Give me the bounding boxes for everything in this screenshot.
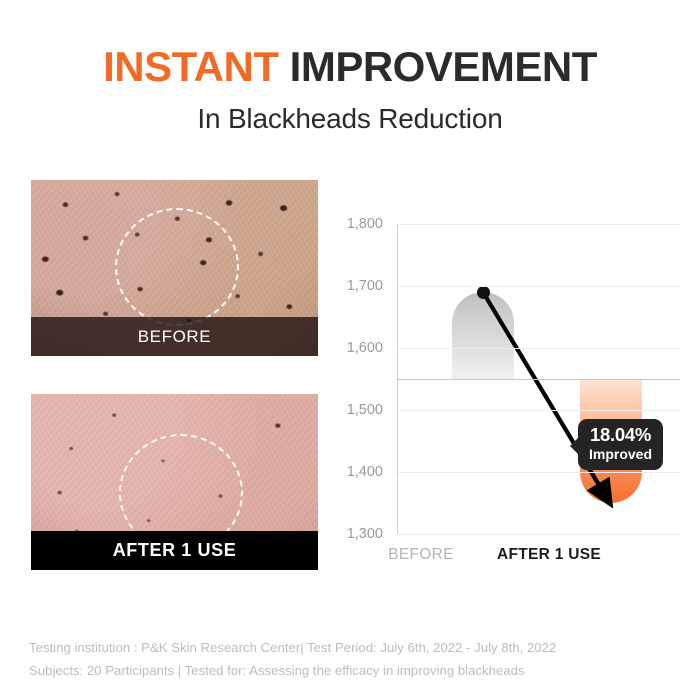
blackhead-reduction-bar-chart: 1,8001,7001,6001,5001,4001,300 BEFORE AF…	[336, 210, 686, 585]
before-value-dot-icon	[477, 286, 490, 299]
gridline	[398, 286, 680, 287]
header: INSTANT IMPROVEMENT In Blackheads Reduct…	[0, 44, 700, 135]
badge-caption: Improved	[589, 446, 652, 462]
x-axis-label-after: AFTER 1 USE	[489, 546, 609, 564]
gridline	[398, 534, 680, 535]
after-photo-label: AFTER 1 USE	[31, 531, 318, 570]
badge-notch-icon	[570, 437, 579, 455]
gridline	[398, 224, 680, 225]
footer-line-2: Subjects: 20 Participants | Tested for: …	[29, 660, 669, 683]
gridline	[398, 410, 680, 411]
y-axis-tick-label: 1,400	[325, 464, 383, 480]
page-title: INSTANT IMPROVEMENT	[0, 44, 700, 89]
footer-line-1: Testing institution : P&K Skin Research …	[29, 637, 669, 660]
y-axis-tick-label: 1,500	[325, 402, 383, 418]
y-axis-tick-label: 1,600	[325, 340, 383, 356]
gridline	[398, 472, 680, 473]
title-accent-word: INSTANT	[103, 43, 278, 90]
y-axis-tick-label: 1,800	[325, 216, 383, 232]
chart-plot-area: 1,8001,7001,6001,5001,4001,300	[397, 224, 680, 534]
gridline	[398, 348, 680, 349]
y-axis-tick-label: 1,300	[325, 526, 383, 542]
footer-disclaimer: Testing institution : P&K Skin Research …	[29, 637, 669, 682]
badge-percent: 18.04%	[589, 425, 652, 445]
before-photo-label: BEFORE	[31, 317, 318, 356]
baseline-gridline	[398, 379, 680, 380]
title-rest-word: IMPROVEMENT	[279, 43, 597, 90]
improvement-badge: 18.04% Improved	[578, 419, 663, 470]
y-axis-tick-label: 1,700	[325, 278, 383, 294]
dashed-circle-annotation-icon	[115, 208, 239, 326]
page-subtitle: In Blackheads Reduction	[0, 103, 700, 135]
x-axis-label-before: BEFORE	[361, 546, 481, 564]
before-photo-card: BEFORE	[31, 180, 318, 356]
after-photo-card: AFTER 1 USE	[31, 394, 318, 570]
